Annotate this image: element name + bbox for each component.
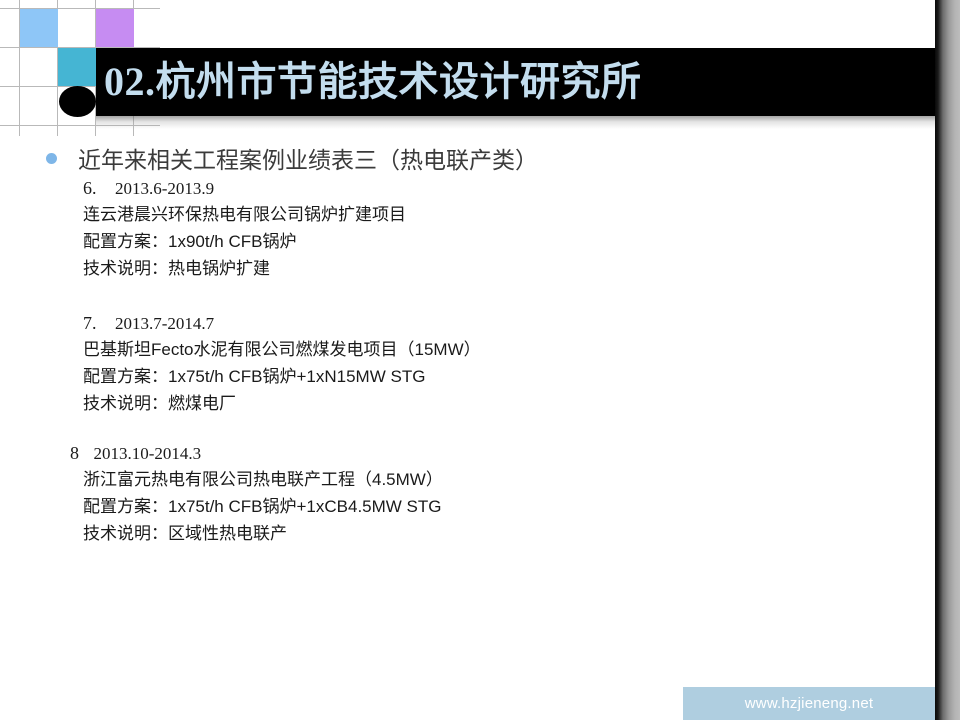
project-entry-period: 2013.6-2013.9 [115,179,214,198]
slide-title: 02.杭州市节能技术设计研究所 [104,52,924,112]
decorative-square-purple [96,9,134,47]
project-entry-config: 配置方案：1x90t/h CFB锅炉 [83,228,406,255]
project-entry-tech: 技术说明：热电锅炉扩建 [83,255,406,282]
decorative-circle-black [59,86,96,117]
slide-content-body: 近年来相关工程案例业绩表三（热电联产类） 6. 2013.6-2013.9 连云… [0,136,935,676]
project-entry-period: 2013.10-2014.3 [94,444,202,463]
project-entry-tech: 技术说明：燃煤电厂 [83,390,481,417]
slide-canvas: 02.杭州市节能技术设计研究所 近年来相关工程案例业绩表三（热电联产类） 6. … [0,0,935,720]
project-entry-number: 6. [83,178,97,198]
project-entry-number: 7. [83,313,97,333]
project-entry: 7. 2013.7-2014.7 巴基斯坦Fecto水泥有限公司燃煤发电项目（1… [83,311,481,417]
bullet-heading-row: 近年来相关工程案例业绩表三（热电联产类） [46,141,538,175]
project-entry-number: 8 [70,443,79,463]
footer-website-url: www.hzjieneng.net [683,687,935,720]
bullet-heading-text: 近年来相关工程案例业绩表三（热电联产类） [78,141,538,175]
project-entry: 6. 2013.6-2013.9 连云港晨兴环保热电有限公司锅炉扩建项目 配置方… [83,176,406,282]
project-entry-period: 2013.7-2014.7 [115,314,214,333]
project-entry: 8 2013.10-2014.3 浙江富元热电有限公司热电联产工程（4.5MW）… [70,441,443,547]
project-entry-name: 巴基斯坦Fecto水泥有限公司燃煤发电项目（15MW） [83,336,481,363]
presentation-slide: 02.杭州市节能技术设计研究所 近年来相关工程案例业绩表三（热电联产类） 6. … [0,0,960,720]
project-entry-header: 7. 2013.7-2014.7 [83,311,481,336]
project-entry-header: 6. 2013.6-2013.9 [83,176,406,201]
project-entry-name: 连云港晨兴环保热电有限公司锅炉扩建项目 [83,201,406,228]
project-entry-header: 8 2013.10-2014.3 [70,441,443,466]
project-entry-config: 配置方案：1x75t/h CFB锅炉+1xN15MW STG [83,363,481,390]
project-entry-tech: 技术说明：区域性热电联产 [83,520,443,547]
project-entry-name: 浙江富元热电有限公司热电联产工程（4.5MW） [83,466,443,493]
decorative-square-teal [58,48,96,86]
decorative-square-blue [20,9,58,47]
footer-bar: www.hzjieneng.net [683,687,935,720]
bullet-dot-icon [46,153,57,164]
slide-right-edge-shadow [935,0,960,720]
title-bar-shadow [96,116,935,129]
project-entry-config: 配置方案：1x75t/h CFB锅炉+1xCB4.5MW STG [83,493,443,520]
